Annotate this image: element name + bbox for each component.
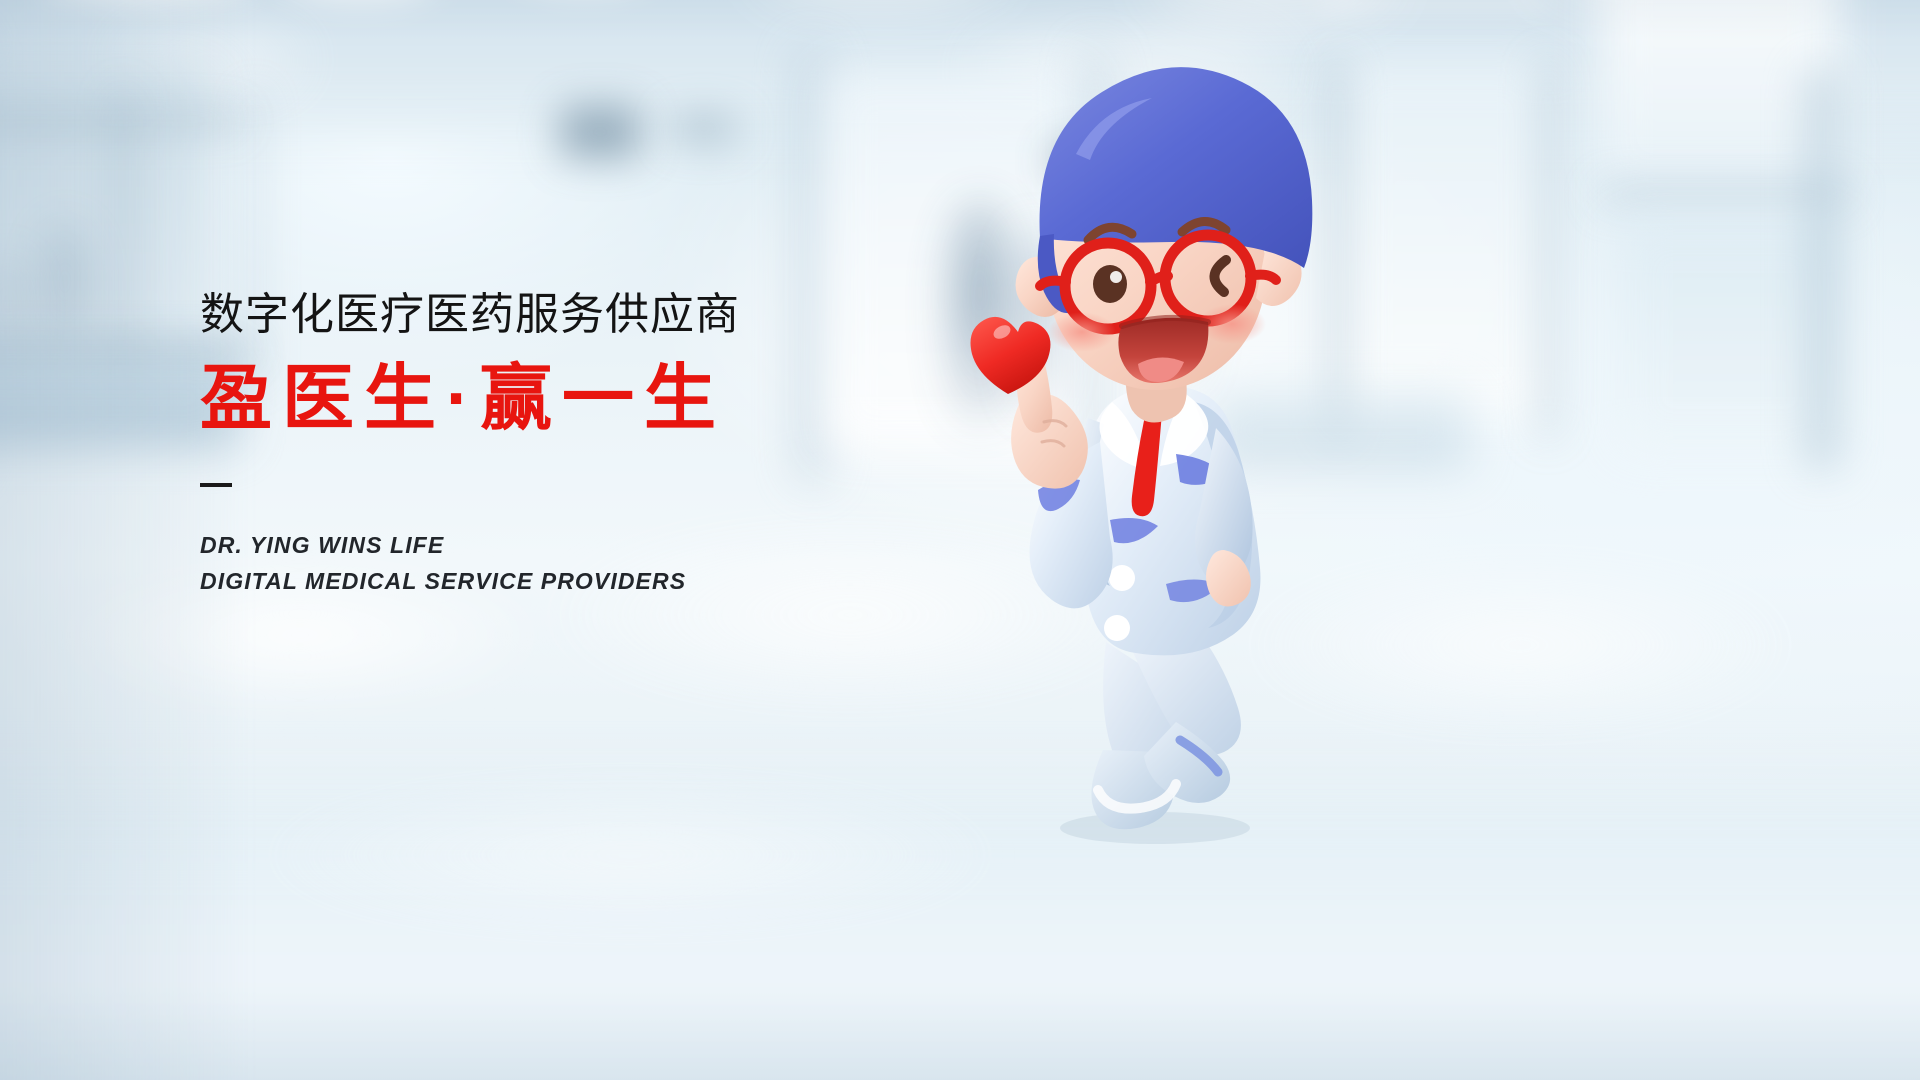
cheek-blush: [1048, 312, 1116, 352]
glasses-temple: [1250, 275, 1276, 280]
doctor-mascot: [980, 50, 1340, 840]
hero-copy: 数字化医疗医药服务供应商 盈医生·赢一生 DR. YING WINS LIFE …: [200, 290, 1020, 600]
subtitle-line-2: DIGITAL MEDICAL SERVICE PROVIDERS: [200, 563, 1020, 599]
open-eye: [1093, 265, 1127, 303]
eye-highlight: [1110, 271, 1122, 283]
kicker-text: 数字化医疗医药服务供应商: [200, 290, 1020, 339]
vignette-bottom: [0, 990, 1920, 1080]
overhead-sign: [560, 106, 640, 158]
hair-cap: [1040, 67, 1313, 268]
coat-button: [1104, 615, 1130, 641]
subtitle-block: DR. YING WINS LIFE DIGITAL MEDICAL SERVI…: [200, 527, 1020, 600]
divider-rule: [200, 483, 232, 487]
subtitle-line-1: DR. YING WINS LIFE: [200, 527, 1020, 563]
page-title: 盈医生·赢一生: [200, 361, 1020, 439]
wall-panel: [1804, 70, 1840, 470]
wall-panel: [1340, 60, 1550, 420]
floor-reflection: [250, 780, 1010, 930]
overhead-sign: [672, 116, 736, 142]
coat-button: [1109, 565, 1135, 591]
glasses-temple: [1040, 281, 1066, 286]
wall-panel: [1542, 60, 1554, 440]
hero-banner: 数字化医疗医药服务供应商 盈医生·赢一生 DR. YING WINS LIFE …: [0, 0, 1920, 1080]
vignette-top: [0, 0, 1920, 40]
